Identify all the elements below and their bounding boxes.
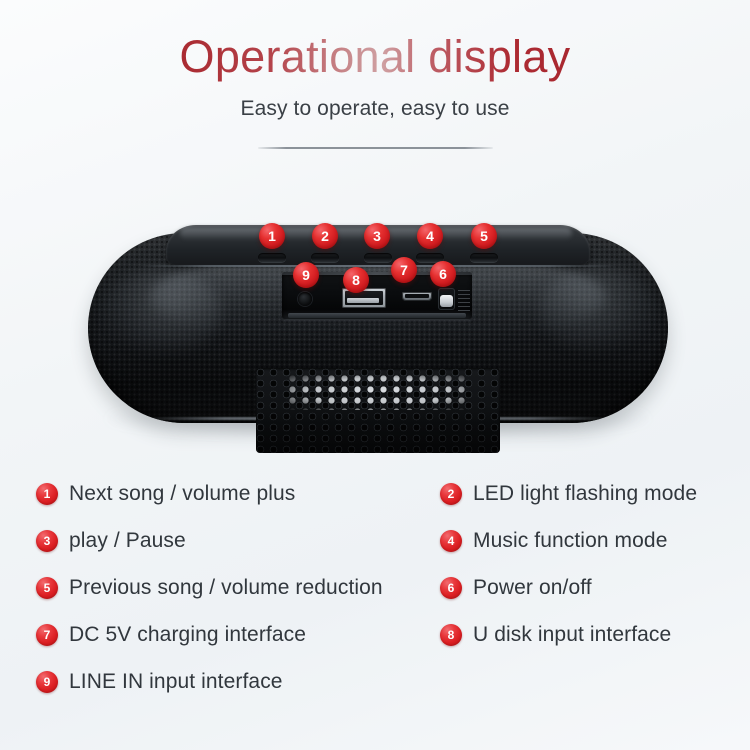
line-in-input-port[interactable] [298,292,312,306]
legend-badge-6: 6 [440,577,462,599]
product-photo: 123459876 [0,180,750,470]
legend-column-left: 1Next song / volume plus3play / Pause5Pr… [36,470,446,705]
legend-badge-8: 8 [440,624,462,646]
photo-callout-badge-5[interactable]: 5 [471,223,497,249]
dot-grille-lit-holes [288,374,470,410]
dot-grille-shading [256,407,500,453]
legend-label: Music function mode [473,529,668,553]
usb-port-tongue [347,298,379,303]
bluetooth-speaker-device [88,225,668,423]
photo-callout-badge-3[interactable]: 3 [364,223,390,249]
legend-column-right: 2LED light flashing mode4Music function … [440,470,740,658]
photo-callout-badge-1[interactable]: 1 [259,223,285,249]
previous-song-volume-reduction-button[interactable] [470,253,498,262]
legend: 1Next song / volume plus3play / Pause5Pr… [0,470,750,750]
legend-label: DC 5V charging interface [69,623,306,647]
page-title: Operational display [0,32,750,82]
legend-item: 5Previous song / volume reduction [36,564,446,611]
power-switch-knob[interactable] [440,295,453,307]
legend-badge-7: 7 [36,624,58,646]
legend-label: LED light flashing mode [473,482,697,506]
legend-item: 9LINE IN input interface [36,658,446,705]
legend-label: Previous song / volume reduction [69,576,383,600]
legend-badge-3: 3 [36,530,58,552]
legend-badge-4: 4 [440,530,462,552]
legend-badge-2: 2 [440,483,462,505]
port-panel-ribs [458,290,470,312]
legend-item: 6Power on/off [440,564,740,611]
header: Operational display Easy to operate, eas… [0,0,750,170]
photo-callout-badge-4[interactable]: 4 [417,223,443,249]
speaker-dot-grille [256,368,500,453]
header-divider [258,147,493,149]
led-light-flashing-mode-button[interactable] [311,253,339,262]
legend-label: U disk input interface [473,623,671,647]
legend-item: 2LED light flashing mode [440,470,740,517]
legend-item: 4Music function mode [440,517,740,564]
legend-label: LINE IN input interface [69,670,283,694]
charging-port-cavity [405,294,429,298]
play-pause-button[interactable] [364,253,392,262]
legend-label: Power on/off [473,576,592,600]
legend-item: 3play / Pause [36,517,446,564]
legend-item: 7DC 5V charging interface [36,611,446,658]
legend-item: 8U disk input interface [440,611,740,658]
photo-callout-badge-7[interactable]: 7 [391,257,417,283]
photo-callout-badge-8[interactable]: 8 [343,267,369,293]
photo-callout-badge-6[interactable]: 6 [430,261,456,287]
legend-badge-9: 9 [36,671,58,693]
legend-item: 1Next song / volume plus [36,470,446,517]
next-song-volume-plus-button[interactable] [258,253,286,262]
page-subtitle: Easy to operate, easy to use [0,97,750,121]
photo-callout-badge-9[interactable]: 9 [293,262,319,288]
legend-badge-5: 5 [36,577,58,599]
legend-badge-1: 1 [36,483,58,505]
legend-label: Next song / volume plus [69,482,295,506]
legend-label: play / Pause [69,529,186,553]
photo-callout-badge-2[interactable]: 2 [312,223,338,249]
speaker-body-seam [140,265,616,267]
port-panel-bottom-lip [288,313,466,318]
